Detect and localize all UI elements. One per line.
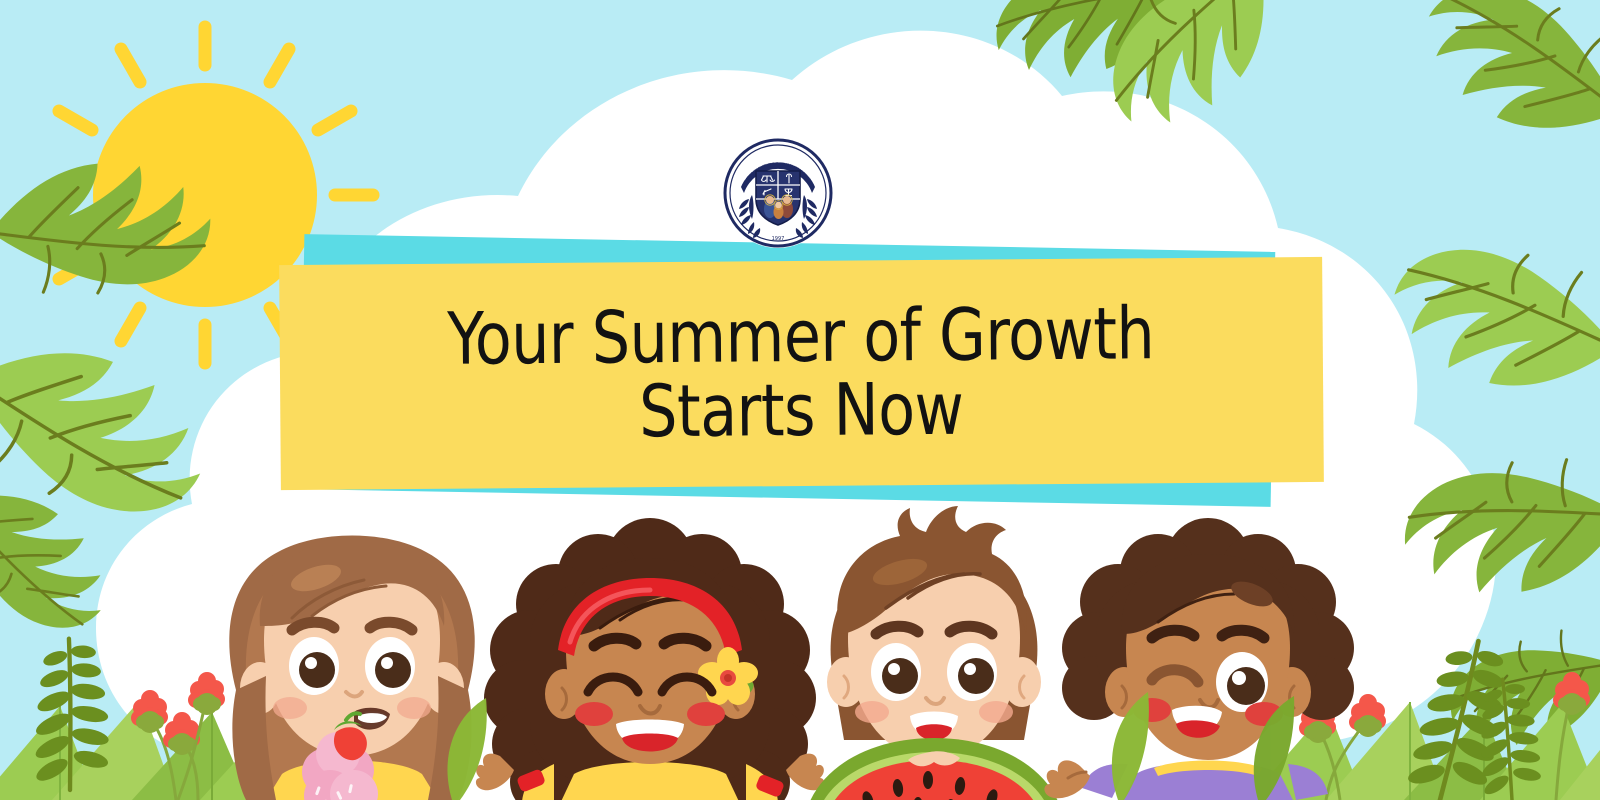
poster-canvas: Your Summer of Growth Starts Now UNIVERS… bbox=[0, 0, 1600, 800]
crest-year: 1997 bbox=[772, 236, 785, 242]
scene-illustration bbox=[0, 0, 1600, 800]
child-1-girl-with-ice-cream bbox=[229, 536, 474, 800]
university-crest-logo: UNIVERSIDAD DE SAGRADA FAMILIA bbox=[722, 137, 834, 249]
